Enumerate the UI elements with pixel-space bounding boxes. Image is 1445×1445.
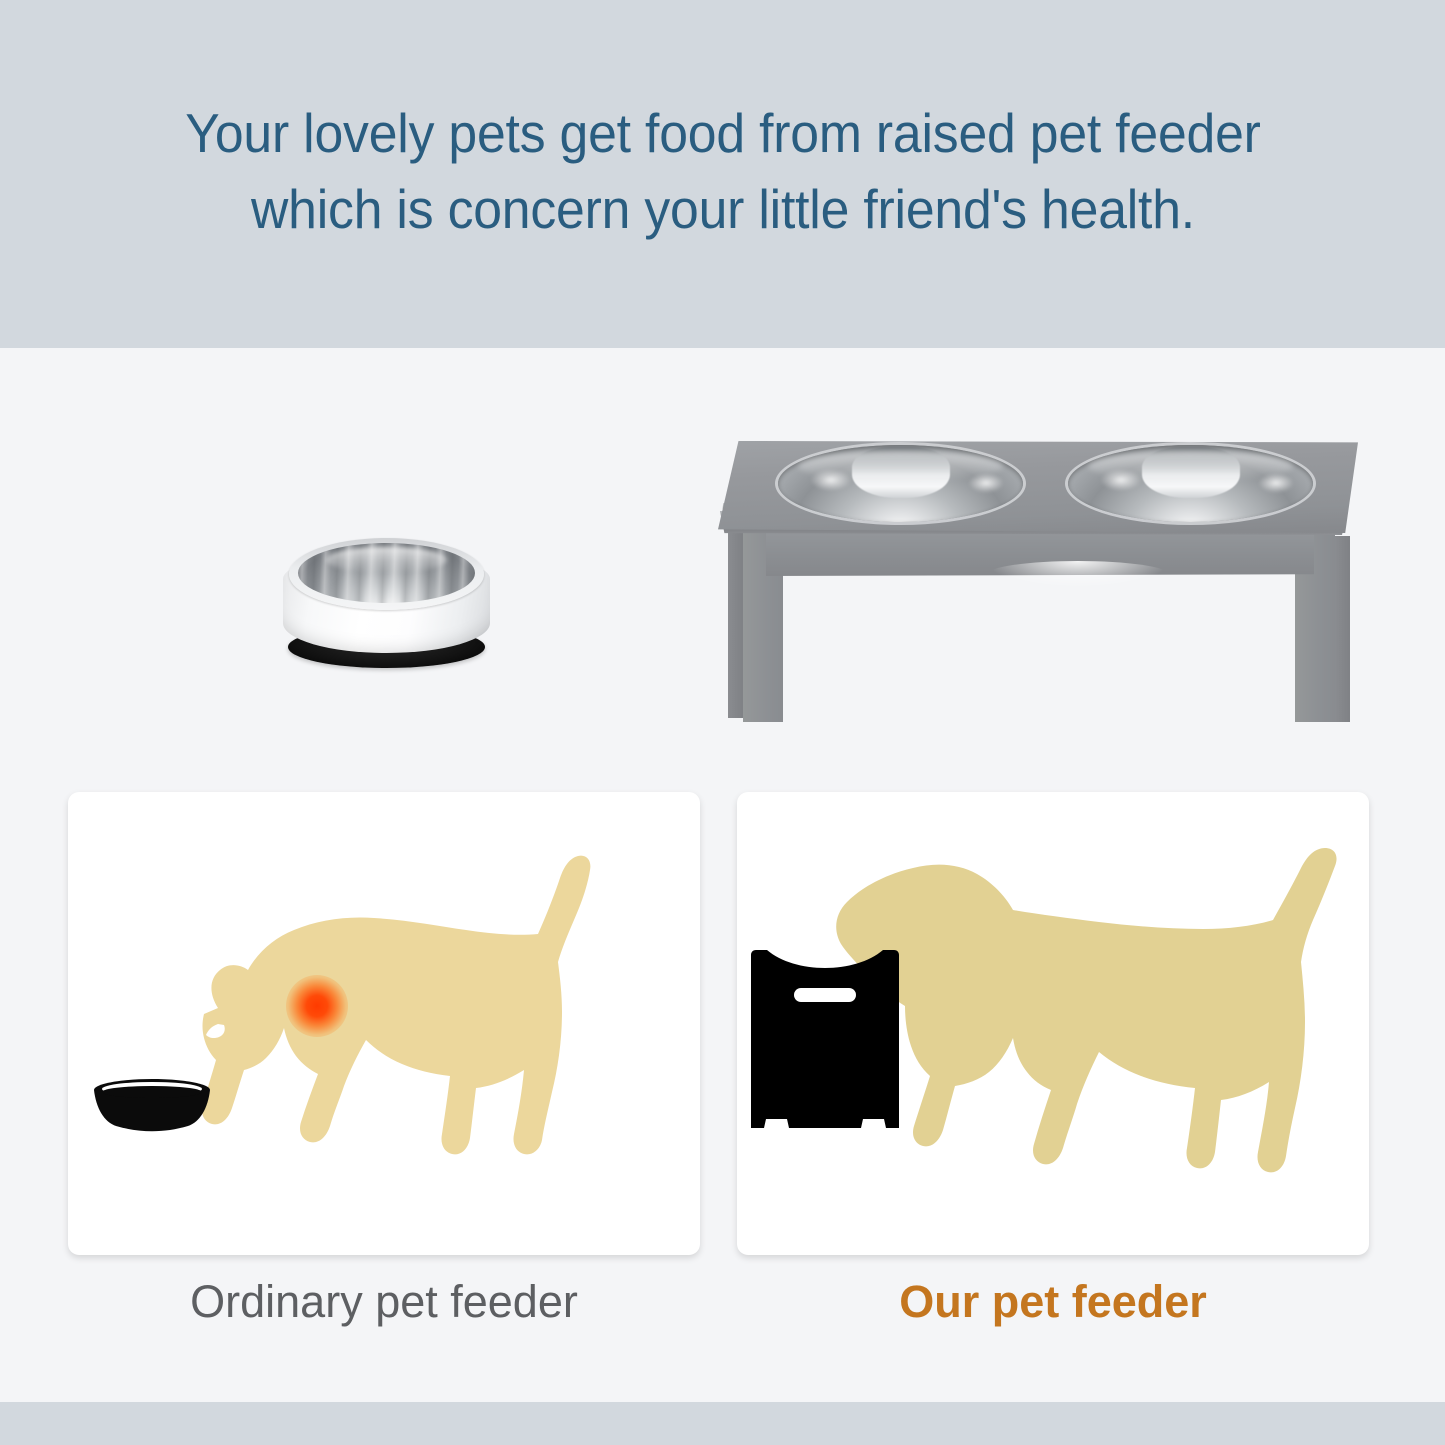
bowl-specular-highlight <box>810 469 852 491</box>
feeder-handle-slot <box>794 988 856 1002</box>
bowl-specular-highlight <box>968 473 1004 493</box>
comparison-card-ordinary[interactable] <box>68 792 700 1255</box>
leg-side-face <box>1335 536 1350 722</box>
leg-side-face <box>728 532 743 718</box>
headline-line-2: which is concern your little friend's he… <box>69 172 1376 248</box>
our-feeder-illustration <box>737 792 1369 1255</box>
page-title: Your lovely pets get food from raised pe… <box>69 96 1376 248</box>
feeder-under-bowl-bulge <box>988 561 1168 587</box>
dog-silhouette-standing <box>836 848 1336 1172</box>
elevated-feeder-silhouette <box>751 950 899 1128</box>
ordinary-feeder-illustration <box>68 792 700 1255</box>
headline-line-1: Your lovely pets get food from raised pe… <box>69 96 1376 172</box>
comparison-card-ours[interactable] <box>737 792 1369 1255</box>
infographic-page: Your lovely pets get food from raised pe… <box>0 0 1445 1445</box>
bowl-stainless-interior <box>298 543 475 603</box>
footer-band <box>0 1402 1445 1445</box>
floor-food-bowl <box>94 1079 210 1131</box>
bowl-specular-highlight <box>1258 473 1294 493</box>
caption-our-feeder: Our pet feeder <box>737 1272 1369 1332</box>
raised-feeder-product-image <box>718 433 1358 733</box>
comparison-cards <box>0 790 1445 1270</box>
caption-ordinary-feeder: Ordinary pet feeder <box>68 1272 700 1332</box>
header-band: Your lovely pets get food from raised pe… <box>0 0 1445 348</box>
bowl-specular-highlight <box>1100 469 1142 491</box>
ordinary-bowl-product-image <box>283 533 490 668</box>
dog-silhouette-bending <box>202 856 590 1155</box>
comparison-captions: Ordinary pet feeder Our pet feeder <box>0 1272 1445 1342</box>
product-stage <box>0 348 1445 778</box>
